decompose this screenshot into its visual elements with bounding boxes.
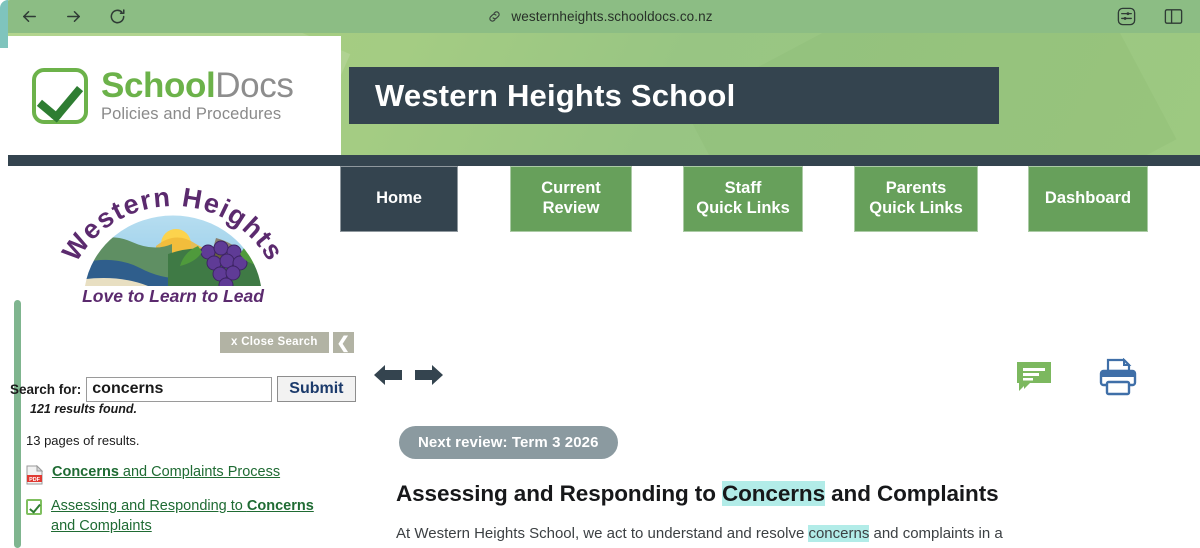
body-pre: At Western Heights School, we act to und… (396, 525, 808, 542)
nav-tab-current-review[interactable]: CurrentReview (510, 166, 632, 232)
browser-nav-buttons (18, 0, 128, 33)
page-title: Western Heights School (375, 78, 735, 114)
school-crest-logo[interactable]: Western Heights Love to Learn to Lead (48, 168, 298, 308)
search-input[interactable] (86, 377, 272, 402)
checkbox-document-icon (26, 499, 42, 515)
link-chain-icon (487, 9, 502, 24)
body-highlight: concerns (808, 525, 869, 542)
next-review-badge: Next review: Term 3 2026 (399, 426, 618, 459)
body-post: and complaints in a (869, 525, 1002, 542)
close-search-button[interactable]: x Close Search (220, 332, 329, 353)
search-controls: x Close Search ❮ (220, 332, 354, 353)
search-result-link[interactable]: Assessing and Responding to Concerns and… (51, 497, 341, 536)
reader-settings-icon[interactable] (1116, 6, 1137, 27)
school-title-bar: Western Heights School (349, 67, 999, 124)
browser-toolbar-right (1116, 0, 1184, 33)
green-check-box-icon (32, 68, 88, 124)
heading-post: and Complaints (825, 481, 999, 506)
comment-bubble-icon[interactable] (1014, 359, 1054, 395)
heading-pre: Assessing and Responding to (396, 481, 722, 506)
result-text-pre: Assessing and Responding to (51, 498, 247, 514)
reload-icon[interactable] (106, 6, 128, 28)
result-text-post: and Complaints (51, 518, 152, 534)
sidebar-scrollbar[interactable] (14, 300, 21, 548)
nav-tab-dashboard[interactable]: Dashboard (1028, 166, 1148, 232)
search-result-item[interactable]: Assessing and Responding to Concerns and… (26, 497, 341, 536)
document-nav-arrows (372, 360, 445, 390)
browser-window: westernheights.schooldocs.co.nz (0, 0, 1200, 548)
svg-text:Love to Learn to Lead: Love to Learn to Lead (82, 286, 264, 306)
nav-tab-parents-quick-links[interactable]: ParentsQuick Links (854, 166, 978, 232)
results-count: 121 results found. (30, 402, 137, 416)
document-actions (1014, 358, 1138, 396)
sidebar-toggle-icon[interactable] (1163, 6, 1184, 27)
logo-tagline: Policies and Procedures (101, 106, 293, 123)
printer-icon[interactable] (1098, 358, 1138, 396)
browser-toolbar: westernheights.schooldocs.co.nz (0, 0, 1200, 33)
logo-name-grey: Docs (215, 66, 293, 105)
search-result-link[interactable]: Concerns and Complaints Process (52, 463, 280, 483)
window-edge-strip (0, 0, 8, 48)
logo-name-green: School (101, 66, 215, 105)
svg-text:PDF: PDF (29, 477, 40, 483)
address-bar[interactable]: westernheights.schooldocs.co.nz (0, 0, 1200, 33)
article-heading: Assessing and Responding to Concerns and… (396, 481, 999, 507)
results-pages-count: 13 pages of results. (26, 433, 139, 448)
search-form: Search for: Submit (10, 376, 356, 402)
submit-button[interactable]: Submit (277, 376, 355, 402)
nav-tab-staff-quick-links[interactable]: StaffQuick Links (683, 166, 803, 232)
heading-highlight: Concerns (722, 481, 825, 506)
back-arrow-icon[interactable] (18, 6, 40, 28)
forward-arrow-icon[interactable] (411, 360, 445, 390)
search-result-item[interactable]: PDF Concerns and Complaints Process (26, 463, 280, 485)
header-divider (8, 155, 1200, 166)
site-header: SchoolDocs Policies and Procedures Weste… (8, 33, 1200, 155)
back-arrow-icon[interactable] (372, 360, 406, 390)
result-keyword: Concerns (247, 498, 314, 514)
chevron-left-icon[interactable]: ❮ (333, 332, 354, 353)
nav-tab-home[interactable]: Home (340, 166, 458, 232)
result-text: and Complaints Process (119, 464, 280, 480)
url-text: westernheights.schooldocs.co.nz (511, 9, 712, 24)
schooldocs-logo[interactable]: SchoolDocs Policies and Procedures (8, 36, 341, 155)
forward-arrow-icon[interactable] (62, 6, 84, 28)
search-label: Search for: (10, 382, 81, 397)
pdf-file-icon: PDF (26, 465, 43, 485)
article-body-text: At Western Heights School, we act to und… (396, 523, 1003, 546)
result-keyword: Concerns (52, 464, 119, 480)
